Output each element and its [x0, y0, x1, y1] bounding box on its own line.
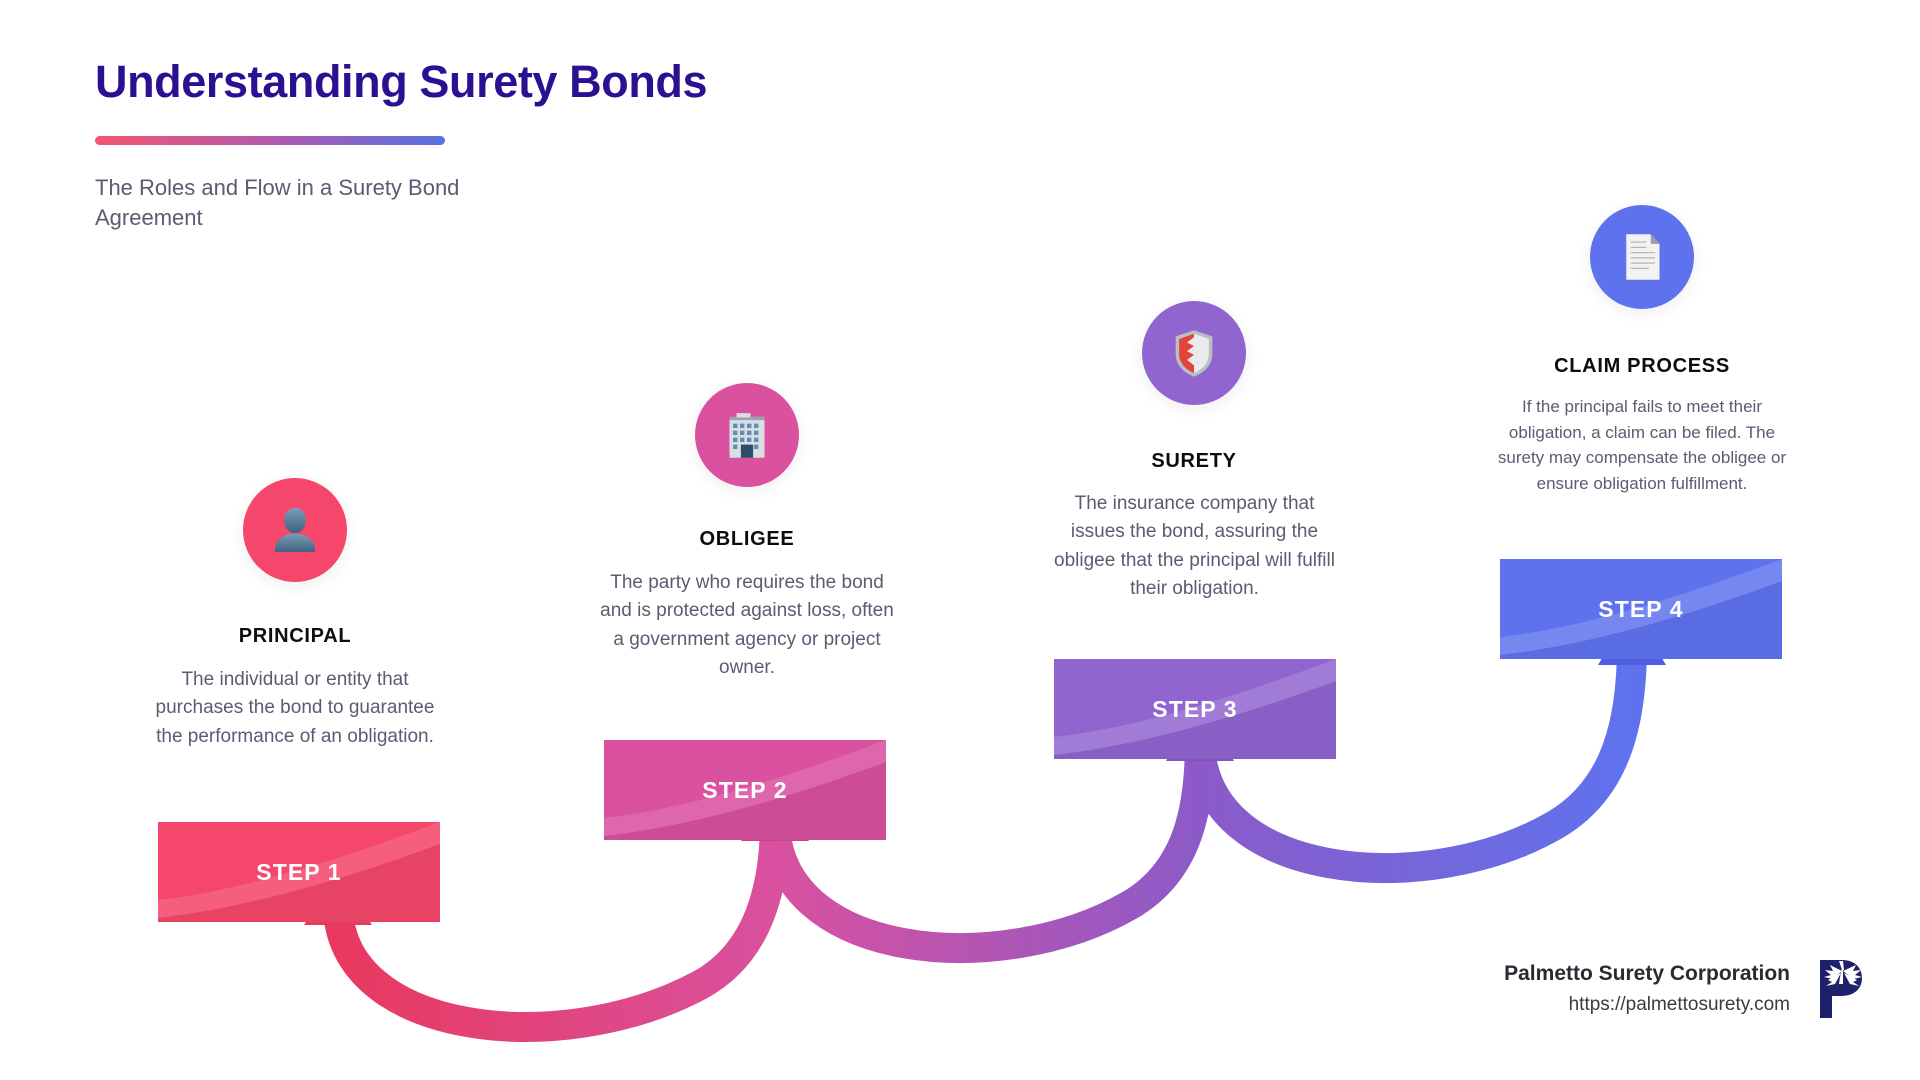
office-building-icon	[719, 407, 775, 463]
role-desc-principal: The individual or entity that purchases …	[150, 666, 440, 751]
step-box-4[interactable]: STEP 4	[1500, 559, 1782, 659]
footer-text: Palmetto Surety Corporation https://palm…	[1504, 962, 1790, 1016]
role-desc-surety: The insurance company that issues the bo…	[1047, 490, 1342, 603]
step-box-2[interactable]: STEP 2	[604, 740, 886, 840]
step-label-3: STEP 3	[1152, 696, 1237, 723]
obligee-icon-circle	[695, 383, 799, 487]
person-bust-icon	[267, 502, 323, 558]
role-title-claim-process: CLAIM PROCESS	[1502, 355, 1782, 378]
principal-icon-circle	[243, 478, 347, 582]
step-label-4: STEP 4	[1598, 596, 1683, 623]
role-title-surety: SURETY	[1054, 450, 1334, 473]
document-page-icon	[1614, 229, 1670, 285]
footer-company-name: Palmetto Surety Corporation	[1504, 962, 1790, 986]
role-title-principal: PRINCIPAL	[155, 625, 435, 648]
role-title-obligee: OBLIGEE	[607, 528, 887, 551]
role-desc-claim-process: If the principal fails to meet their obl…	[1492, 394, 1792, 496]
step-box-1[interactable]: STEP 1	[158, 822, 440, 922]
step-box-3[interactable]: STEP 3	[1054, 659, 1336, 759]
shield-icon	[1166, 325, 1222, 381]
surety-icon-circle	[1142, 301, 1246, 405]
footer-url[interactable]: https://palmettosurety.com	[1504, 994, 1790, 1016]
footer: Palmetto Surety Corporation https://palm…	[1504, 958, 1868, 1020]
infographic-canvas: Understanding Surety Bonds The Roles and…	[0, 0, 1920, 1080]
role-desc-obligee: The party who requires the bond and is p…	[597, 569, 897, 682]
claim-process-icon-circle	[1590, 205, 1694, 309]
palmetto-p-logo	[1812, 958, 1868, 1020]
step-label-2: STEP 2	[702, 777, 787, 804]
step-label-1: STEP 1	[256, 859, 341, 886]
